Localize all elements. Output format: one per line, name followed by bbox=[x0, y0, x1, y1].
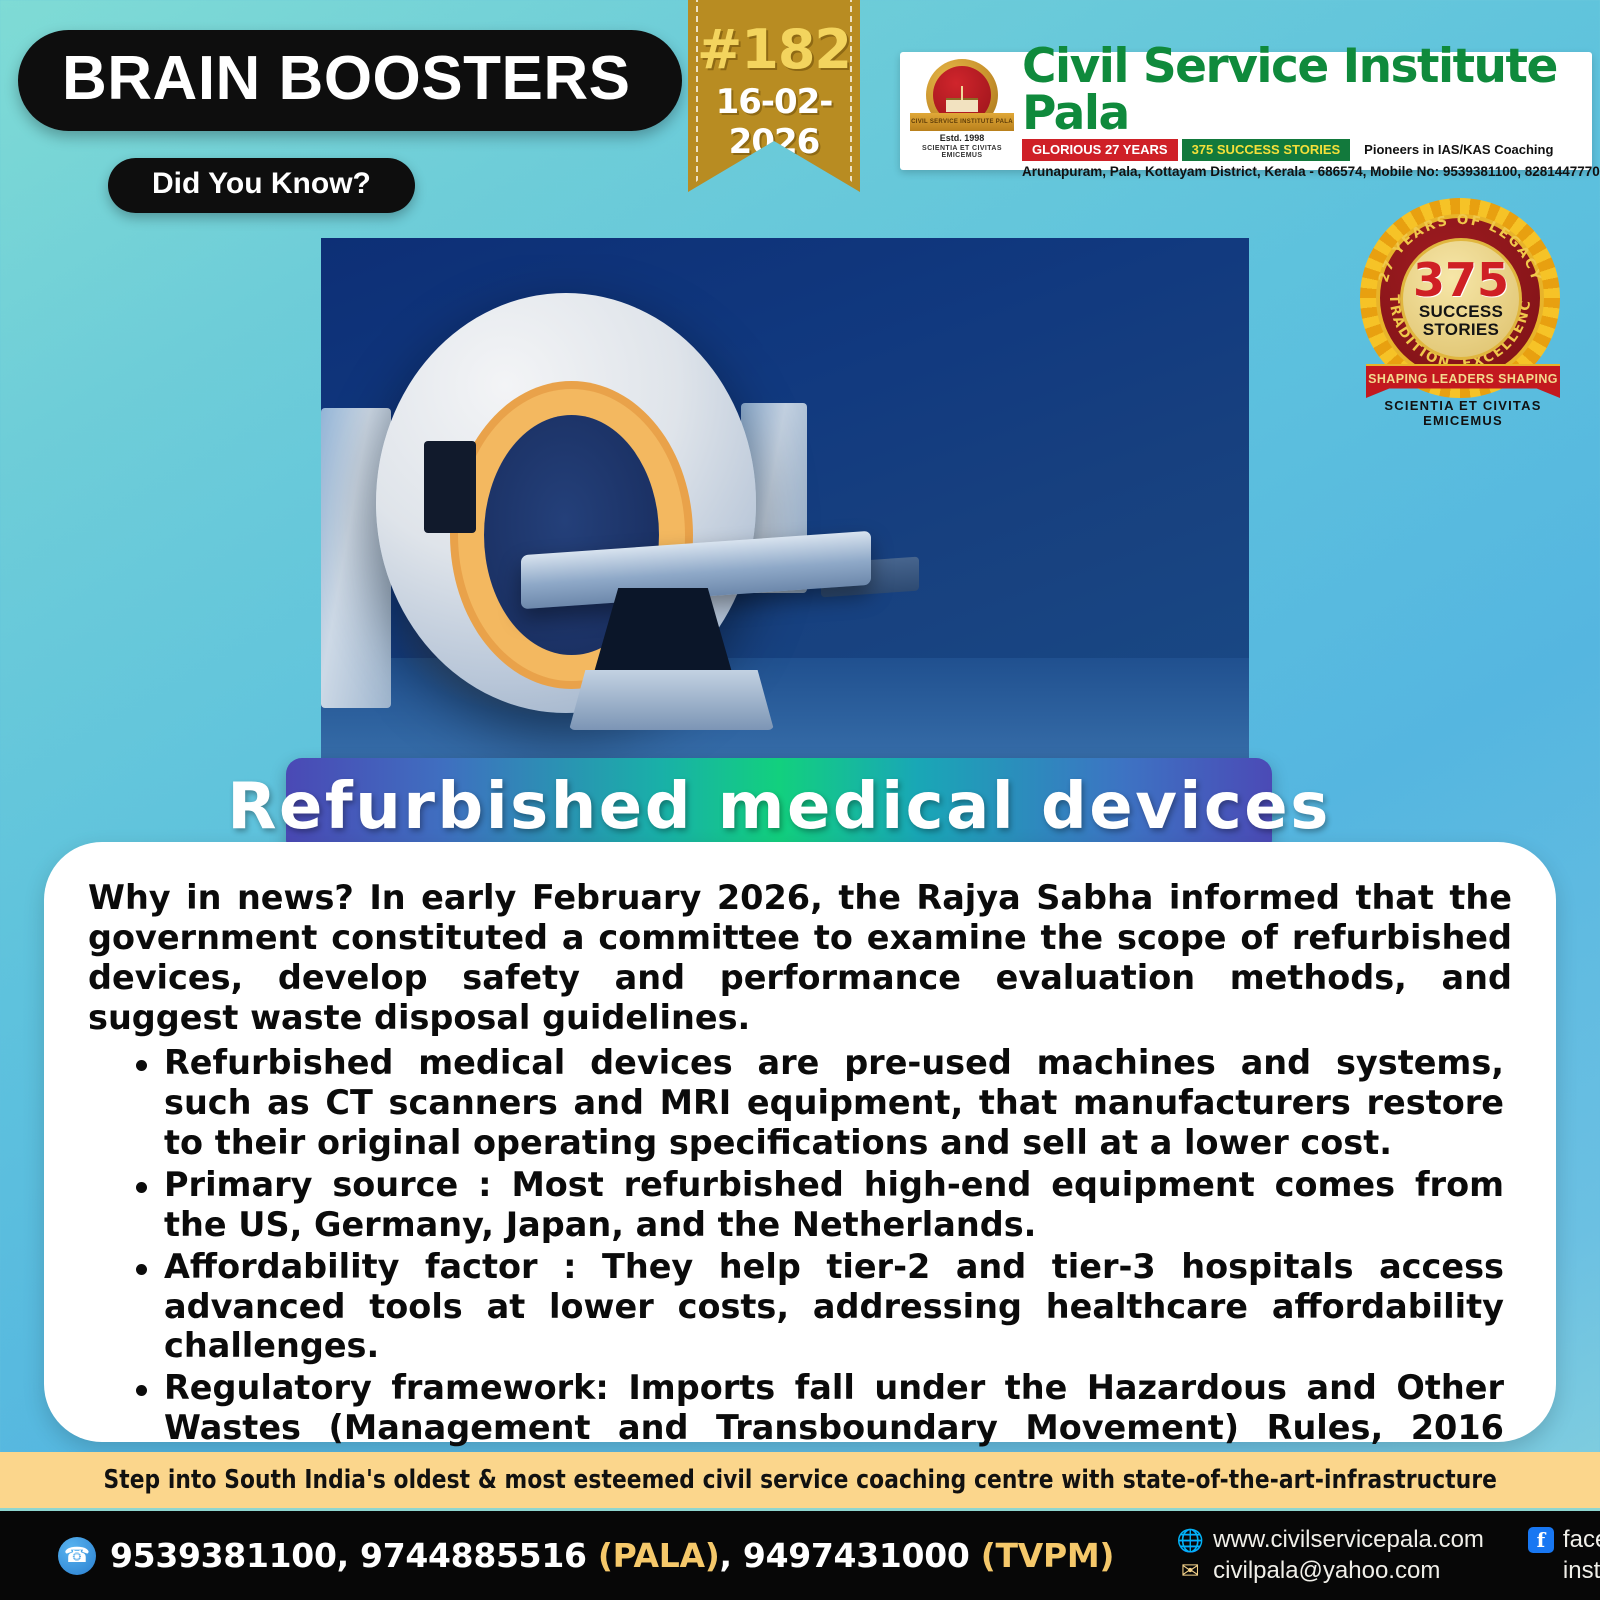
header: BRAIN BOOSTERS Did You Know? #182 16-02-… bbox=[0, 0, 1600, 230]
footer-facebook-row[interactable]: f facebook.com/civilservicepala bbox=[1528, 1525, 1600, 1555]
phone-label-tvpm: (TVPM) bbox=[981, 1536, 1114, 1575]
chip-pioneers: Pioneers in IAS/KAS Coaching bbox=[1354, 139, 1563, 161]
website-url: www.civilservicepala.com bbox=[1213, 1525, 1484, 1555]
list-item: Primary source : Most refurbished high-e… bbox=[130, 1165, 1526, 1245]
chip-success-stories: 375 SUCCESS STORIES bbox=[1182, 139, 1351, 161]
footer-social-block: f facebook.com/civilservicepala instagra… bbox=[1528, 1525, 1600, 1585]
facebook-icon: f bbox=[1528, 1527, 1554, 1553]
list-item: Refurbished medical devices are pre-used… bbox=[130, 1043, 1526, 1163]
page-title: BRAIN BOOSTERS bbox=[18, 30, 682, 131]
crest-motto-label: SCIENTIA ET CIVITAS EMICEMUS bbox=[906, 145, 1018, 159]
tagline-bar: Step into South India's oldest & most es… bbox=[0, 1452, 1600, 1508]
email-address: civilpala@yahoo.com bbox=[1213, 1556, 1440, 1586]
logo-text-block: Civil Service Institute Pala GLORIOUS 27… bbox=[1018, 43, 1600, 179]
footer-web-block: 🌐 www.civilservicepala.com ✉ civilpala@y… bbox=[1176, 1525, 1484, 1585]
why-in-news-paragraph: Why in news? In early February 2026, the… bbox=[88, 878, 1512, 1037]
badge-stories-label: STORIES bbox=[1423, 321, 1499, 339]
logo-chip-row: GLORIOUS 27 YEARS 375 SUCCESS STORIES Pi… bbox=[1022, 139, 1600, 161]
footer-website-row[interactable]: 🌐 www.civilservicepala.com bbox=[1176, 1525, 1484, 1555]
institute-crest-icon: CIVIL SERVICE INSTITUTE PALA Estd. 1998 … bbox=[906, 57, 1018, 165]
envelope-icon: ✉ bbox=[1176, 1558, 1204, 1584]
badge-success-label: SUCCESS bbox=[1419, 303, 1503, 321]
bullet-list: Refurbished medical devices are pre-used… bbox=[130, 1043, 1526, 1487]
footer-email-row[interactable]: ✉ civilpala@yahoo.com bbox=[1176, 1556, 1484, 1586]
phone-numbers-secondary: , 9497431000 bbox=[719, 1536, 980, 1575]
footer: ☎ 9539381100, 9744885516 (PALA), 9497431… bbox=[0, 1508, 1600, 1600]
institute-address: Arunapuram, Pala, Kottayam District, Ker… bbox=[1022, 164, 1600, 179]
crest-ribbon-label: CIVIL SERVICE INSTITUTE PALA bbox=[910, 113, 1014, 131]
globe-icon: 🌐 bbox=[1176, 1527, 1204, 1553]
375-success-badge: 27 YEARS OF LEGACY TRADITION EXCELLENCE … bbox=[1352, 198, 1574, 418]
subtitle-pill: Did You Know? bbox=[108, 158, 415, 213]
badge-number: 375 bbox=[1413, 259, 1509, 303]
institute-logo-bar: CIVIL SERVICE INSTITUTE PALA Estd. 1998 … bbox=[900, 52, 1592, 170]
phone-numbers-primary: 9539381100, 9744885516 bbox=[110, 1536, 598, 1575]
topic-title: Refurbished medical devices bbox=[227, 770, 1331, 844]
issue-ribbon: #182 16-02-2026 bbox=[688, 0, 860, 192]
phone-icon: ☎ bbox=[58, 1537, 96, 1575]
issue-number: #182 bbox=[688, 18, 860, 81]
issue-date: 16-02-2026 bbox=[688, 82, 860, 162]
hero-ct-scanner-image bbox=[321, 238, 1249, 778]
instagram-url: instagram.com/civilservicepala bbox=[1563, 1556, 1600, 1586]
crest-estd-label: Estd. 1998 bbox=[906, 133, 1018, 143]
scanner-table-base bbox=[569, 670, 774, 730]
badge-motto-label: SCIENTIA ET CIVITAS EMICEMUS bbox=[1352, 398, 1574, 428]
list-item: Affordability factor : They help tier-2 … bbox=[130, 1247, 1526, 1367]
chip-glorious-years: GLORIOUS 27 YEARS bbox=[1022, 139, 1178, 161]
footer-phones: ☎ 9539381100, 9744885516 (PALA), 9497431… bbox=[58, 1536, 1114, 1575]
facebook-url: facebook.com/civilservicepala bbox=[1563, 1525, 1600, 1555]
scanner-control-panel bbox=[424, 441, 476, 533]
phone-label-pala: (PALA) bbox=[598, 1536, 720, 1575]
institute-name: Civil Service Institute Pala bbox=[1022, 43, 1600, 137]
phone-numbers[interactable]: 9539381100, 9744885516 (PALA), 949743100… bbox=[110, 1536, 1114, 1575]
footer-instagram-row[interactable]: instagram.com/civilservicepala bbox=[1528, 1556, 1600, 1586]
content-card: Why in news? In early February 2026, the… bbox=[44, 842, 1556, 1442]
tagline-text: Step into South India's oldest & most es… bbox=[103, 1465, 1497, 1495]
badge-core: 375 SUCCESS STORIES bbox=[1400, 238, 1522, 360]
